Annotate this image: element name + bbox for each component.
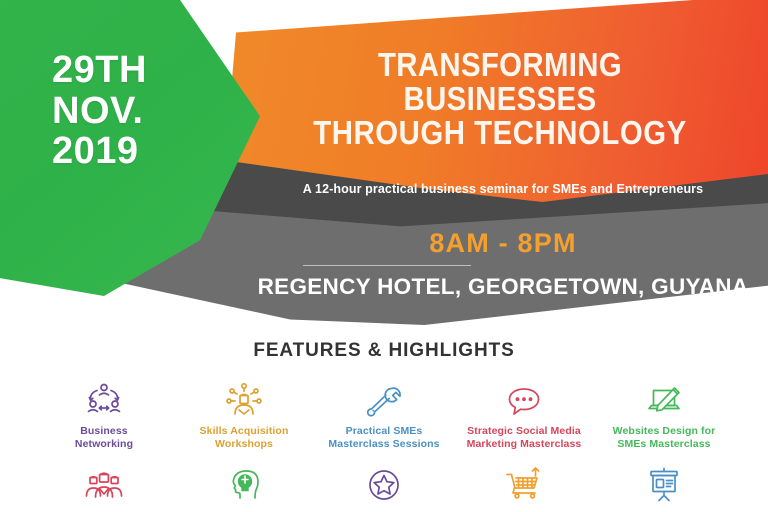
date-line-2: NOV. bbox=[52, 91, 147, 132]
shopping-cart-up-icon bbox=[503, 464, 545, 506]
event-date: 29TH NOV. 2019 bbox=[52, 50, 147, 172]
person-skills-icon bbox=[223, 380, 265, 422]
star-badge-icon bbox=[363, 464, 405, 506]
people-network-icon bbox=[83, 380, 125, 422]
headline-line-1: TRANSFORMING BUSINESSES bbox=[278, 48, 723, 116]
feature-label: Skills AcquisitionWorkshops bbox=[200, 425, 289, 451]
features-row-primary: BusinessNetworkingSkills AcquisitionWork… bbox=[34, 380, 734, 451]
feature-item bbox=[314, 464, 454, 506]
date-line-3: 2019 bbox=[52, 131, 147, 172]
time-underline-divider bbox=[303, 265, 471, 266]
presentation-board-icon bbox=[643, 464, 685, 506]
feature-item bbox=[34, 464, 174, 506]
feature-item: Strategic Social MediaMarketing Mastercl… bbox=[454, 380, 594, 451]
feature-label: Strategic Social MediaMarketing Mastercl… bbox=[467, 425, 582, 451]
feature-item bbox=[174, 464, 314, 506]
people-group-icon bbox=[83, 464, 125, 506]
feature-label: Practical SMEsMasterclass Sessions bbox=[328, 425, 439, 451]
feature-item bbox=[594, 464, 734, 506]
date-line-1: 29TH bbox=[52, 50, 147, 91]
event-flyer: 29TH NOV. 2019 TRANSFORMING BUSINESSES T… bbox=[0, 0, 768, 512]
headline-line-2: THROUGH TECHNOLOGY bbox=[278, 116, 723, 150]
head-lightbulb-icon bbox=[223, 464, 265, 506]
page-title: TRANSFORMING BUSINESSES THROUGH TECHNOLO… bbox=[278, 48, 723, 150]
event-subtitle: A 12-hour practical business seminar for… bbox=[248, 182, 758, 196]
feature-label: BusinessNetworking bbox=[75, 425, 133, 451]
features-row-secondary bbox=[34, 464, 734, 506]
event-time-wrap: 8AM - 8PM bbox=[248, 228, 758, 264]
event-time: 8AM - 8PM bbox=[429, 228, 576, 264]
event-venue: REGENCY HOTEL, GEORGETOWN, GUYANA bbox=[248, 274, 758, 300]
feature-item: Skills AcquisitionWorkshops bbox=[174, 380, 314, 451]
feature-item: Websites Design forSMEs Masterclass bbox=[594, 380, 734, 451]
feature-item: Practical SMEsMasterclass Sessions bbox=[314, 380, 454, 451]
speech-bubble-icon bbox=[503, 380, 545, 422]
feature-label: Websites Design forSMEs Masterclass bbox=[613, 425, 716, 451]
laptop-pencil-icon bbox=[643, 380, 685, 422]
wrench-icon bbox=[363, 380, 405, 422]
feature-item bbox=[454, 464, 594, 506]
features-heading: FEATURES & HIGHLIGHTS bbox=[134, 340, 634, 362]
feature-item: BusinessNetworking bbox=[34, 380, 174, 451]
